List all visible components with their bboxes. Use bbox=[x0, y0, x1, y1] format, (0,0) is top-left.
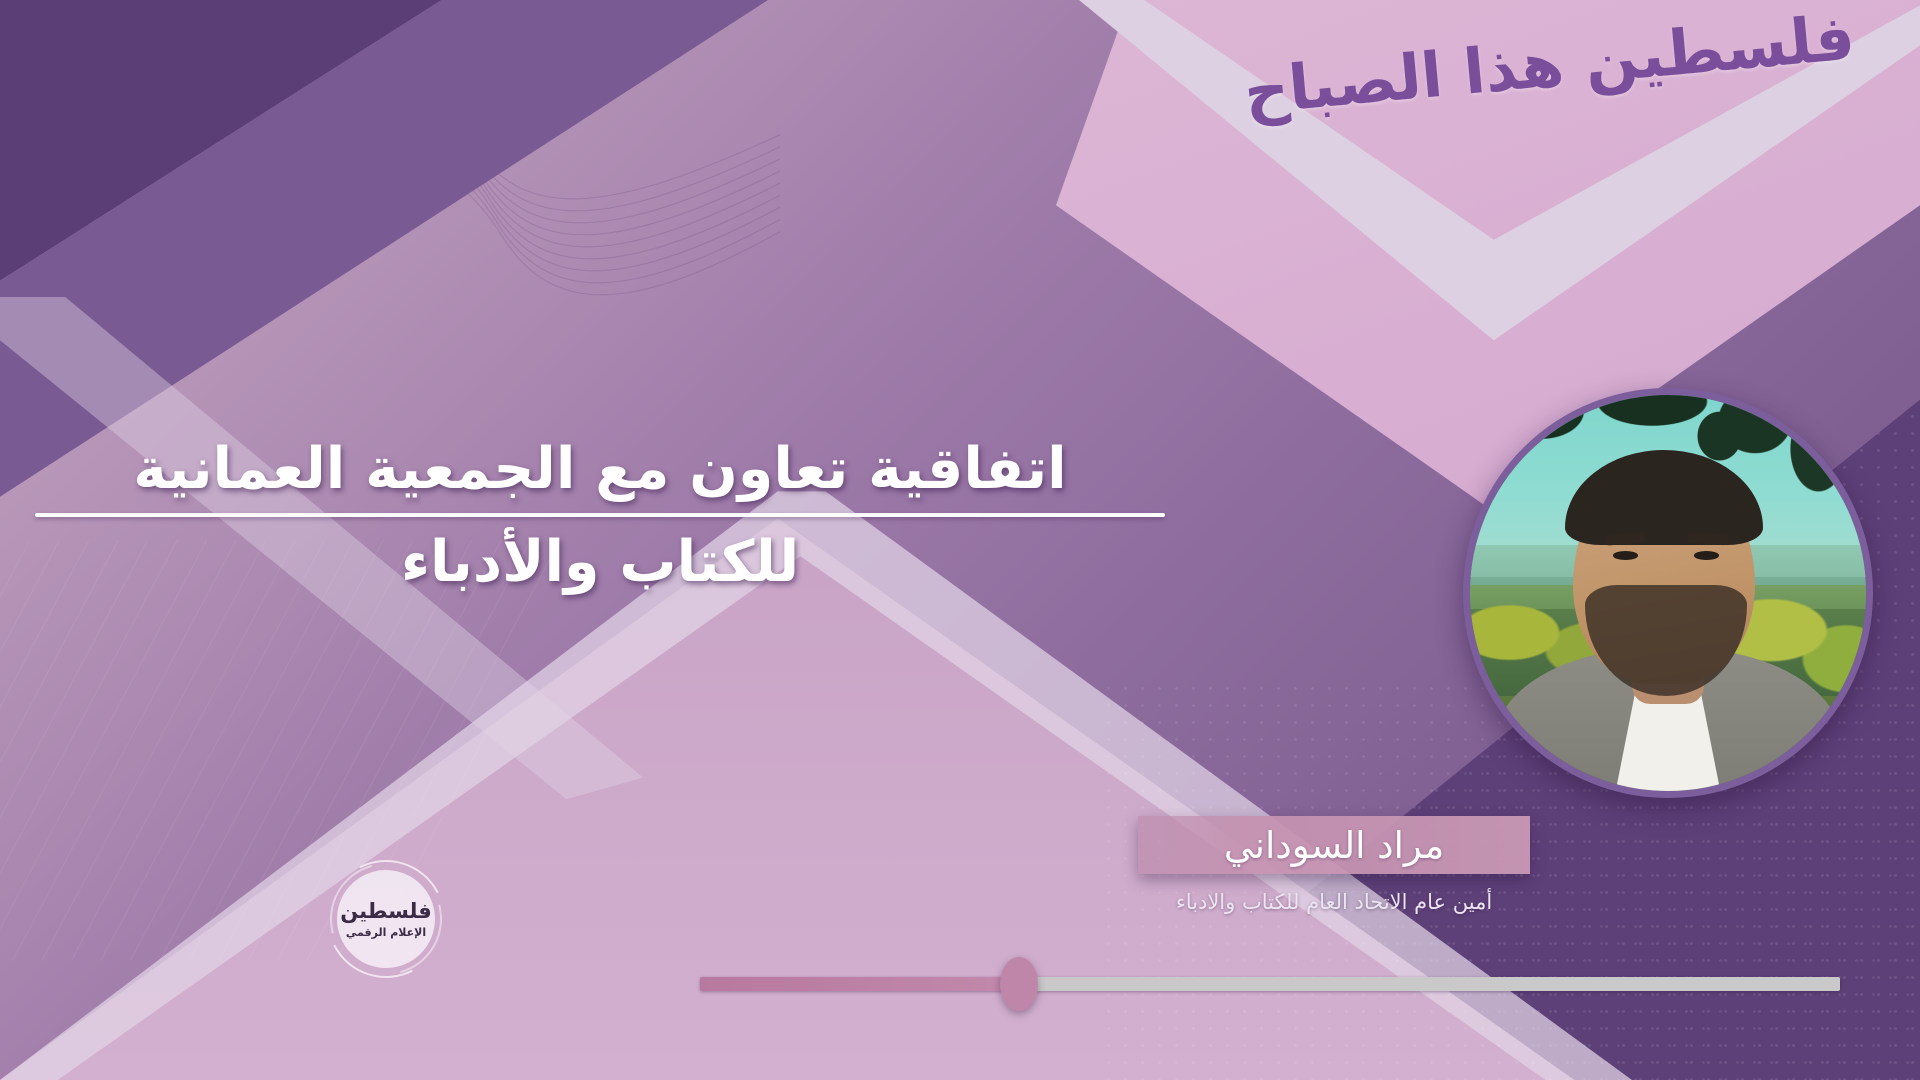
avatar-photo bbox=[1470, 395, 1866, 791]
guest-role-text: أمين عام الاتحاد العام للكتاب والادباء bbox=[1138, 890, 1530, 914]
headline-line-1: اتفاقية تعاون مع الجمعية العمانية bbox=[20, 432, 1180, 507]
headline-block: اتفاقية تعاون مع الجمعية العمانية للكتاب… bbox=[20, 432, 1180, 600]
headline-line-2: للكتاب والأدباء bbox=[20, 525, 1180, 600]
guest-name-text: مراد السوداني bbox=[1224, 824, 1444, 867]
watermark-title: فلسطين bbox=[340, 901, 432, 922]
guest-name-banner: مراد السوداني bbox=[1138, 816, 1530, 874]
headline-divider bbox=[35, 513, 1165, 517]
progress-knob[interactable] bbox=[1000, 957, 1038, 1011]
broadcast-frame: فلسطين هذا الصباح اتفاقية تعاون مع الجمع… bbox=[0, 0, 1920, 1080]
progress-fill bbox=[700, 977, 1019, 991]
channel-watermark: فلسطين الإعلام الرقمي bbox=[327, 860, 445, 978]
watermark-subtitle: الإعلام الرقمي bbox=[346, 927, 426, 938]
video-progress-bar[interactable] bbox=[700, 977, 1840, 991]
watermark-circle: فلسطين الإعلام الرقمي bbox=[337, 870, 435, 968]
guest-avatar bbox=[1463, 388, 1873, 798]
